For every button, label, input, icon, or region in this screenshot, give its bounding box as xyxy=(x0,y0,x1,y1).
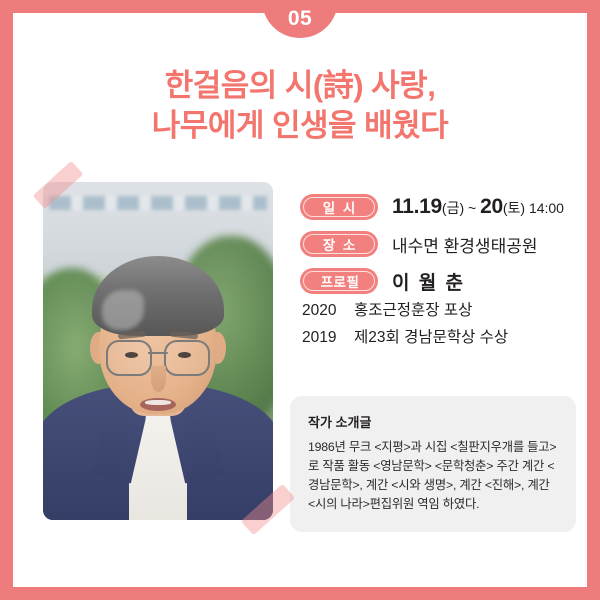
awards-list: 2020 홍조근정훈장 포상 2019 제23회 경남문학상 수상 xyxy=(302,298,582,352)
info-row-date: 일 시 11.19(금) ~ 20(토) 14:00 xyxy=(300,190,576,224)
award-year: 2019 xyxy=(302,329,354,347)
award-row: 2020 홍조근정훈장 포상 xyxy=(302,298,582,320)
info-label-profile-text: 프로필 xyxy=(319,271,360,291)
info-value-place: 내수면 환경생태공원 xyxy=(392,232,537,257)
date-start-day: (금) ~ xyxy=(442,200,480,216)
info-row-place: 장 소 내수면 환경생태공원 xyxy=(300,227,576,261)
frame-border-bottom xyxy=(0,587,600,600)
event-card: 05 한걸음의 시(詩) 사랑, 나무에게 인생을 배웠다 xyxy=(0,0,600,600)
info-label-date-pill: 일 시 xyxy=(300,194,378,220)
author-bio-title: 작가 소개글 xyxy=(308,412,558,431)
event-info-list: 일 시 11.19(금) ~ 20(토) 14:00 장 소 내수면 환경생태공… xyxy=(300,190,576,301)
title-line-2: 나무에게 인생을 배웠다 xyxy=(0,106,600,146)
info-row-profile: 프로필 이 월 춘 xyxy=(300,264,576,298)
info-label-place-text: 장 소 xyxy=(321,234,358,254)
photo-mouth xyxy=(140,398,176,411)
award-year: 2020 xyxy=(302,302,354,320)
page-number-text: 05 xyxy=(288,8,312,31)
award-text: 제23회 경남문학상 수상 xyxy=(354,325,508,347)
title-line-1: 한걸음의 시(詩) 사랑, xyxy=(0,66,600,106)
author-bio-text: 1986년 무크 <지평>과 시집 <칠판지우개를 들고>로 작품 활동 <영남… xyxy=(308,438,558,514)
date-end: 20 xyxy=(480,195,503,218)
date-start: 11.19 xyxy=(392,195,442,218)
award-row: 2019 제23회 경남문학상 수상 xyxy=(302,325,582,347)
author-photo xyxy=(43,182,273,520)
info-label-date-text: 일 시 xyxy=(321,197,358,217)
photo-nose xyxy=(151,366,166,392)
page-title: 한걸음의 시(詩) 사랑, 나무에게 인생을 배웠다 xyxy=(0,66,600,146)
photo-glasses-lens-left xyxy=(106,340,152,376)
info-label-profile-pill: 프로필 xyxy=(300,268,378,294)
author-bio-box: 작가 소개글 1986년 무크 <지평>과 시집 <칠판지우개를 들고>로 작품… xyxy=(290,396,576,532)
info-value-profile-name: 이 월 춘 xyxy=(392,268,465,295)
info-label-place-pill: 장 소 xyxy=(300,231,378,257)
award-text: 홍조근정훈장 포상 xyxy=(354,298,472,320)
page-number-badge: 05 xyxy=(262,0,338,38)
date-end-day-time: (토) 14:00 xyxy=(503,200,564,216)
info-value-date: 11.19(금) ~ 20(토) 14:00 xyxy=(392,195,564,219)
photo-glasses-lens-right xyxy=(164,340,210,376)
author-photo-image xyxy=(43,182,273,520)
